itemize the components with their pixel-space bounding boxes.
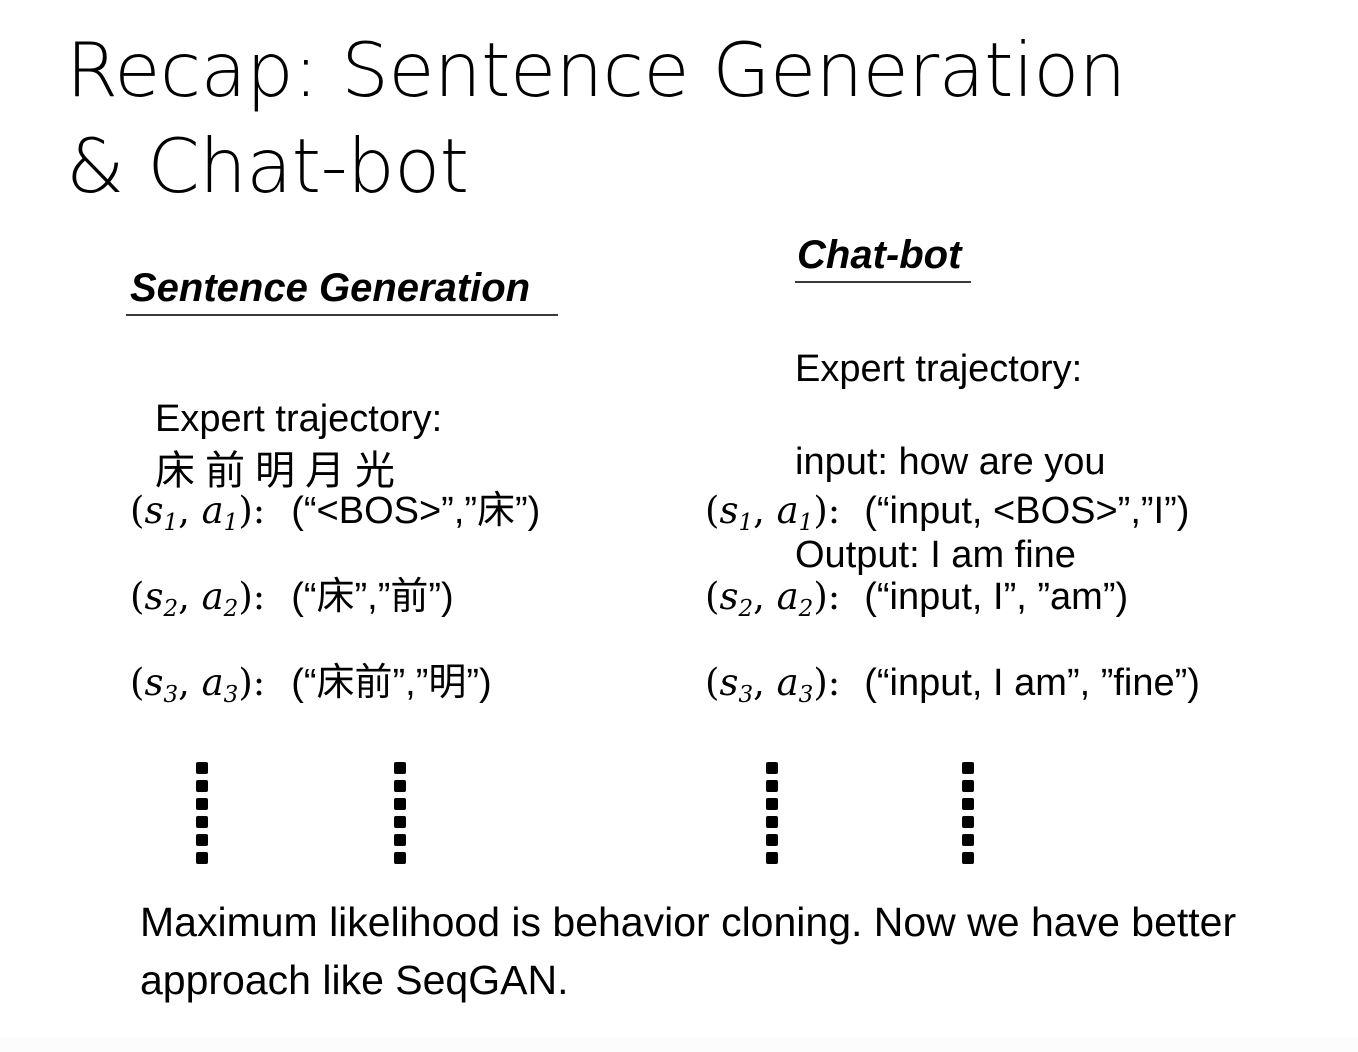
vertical-ellipsis-icon — [196, 762, 208, 864]
expert-trajectory-label-left: Expert trajectory: — [155, 398, 442, 440]
state-action-label: (s2, a2): — [130, 578, 265, 615]
page-title: Recap: Sentence Generation & Chat-bot — [66, 22, 1166, 214]
section-underline-sentence-generation — [126, 314, 558, 316]
state-action-label: (s1, a1): — [705, 492, 840, 529]
state-action-row: (s1, a1): (“<BOS>”,”床”) — [130, 492, 540, 538]
state-action-label: (s3, a3): — [130, 664, 265, 701]
state-action-value: (“input, I”, ”am”) — [864, 578, 1128, 616]
state-action-label: (s1, a1): — [130, 492, 265, 529]
state-action-pairs-chat-bot: (s1, a1): (“input, <BOS>”,”I”) (s2, a2):… — [705, 492, 1200, 710]
state-action-row: (s1, a1): (“input, <BOS>”,”I”) — [705, 492, 1200, 538]
state-action-row: (s3, a3): (“input, I am”, ”fine”) — [705, 664, 1200, 710]
state-action-row: (s3, a3): (“床前”,”明”) — [130, 664, 540, 710]
vertical-ellipsis-icon — [766, 762, 778, 864]
bottom-band — [0, 1038, 1358, 1052]
footnote-text: Maximum likelihood is behavior cloning. … — [140, 893, 1270, 1009]
vertical-ellipsis-icon — [394, 762, 406, 864]
state-action-value: (“床”,”前”) — [291, 578, 453, 616]
state-action-label: (s3, a3): — [705, 664, 840, 701]
slide-canvas: Recap: Sentence Generation & Chat-bot Se… — [0, 0, 1358, 1052]
state-action-value: (“<BOS>”,”床”) — [291, 492, 540, 530]
state-action-value: (“input, I am”, ”fine”) — [864, 664, 1200, 702]
expert-trajectory-input: input: how are you — [795, 439, 1106, 485]
state-action-row: (s2, a2): (“input, I”, ”am”) — [705, 578, 1200, 624]
state-action-label: (s2, a2): — [705, 578, 840, 615]
state-action-row: (s2, a2): (“床”,”前”) — [130, 578, 540, 624]
section-heading-chat-bot: Chat-bot — [797, 235, 961, 275]
state-action-value: (“床前”,”明”) — [291, 664, 491, 702]
expert-trajectory-label-right: Expert trajectory: — [795, 346, 1106, 392]
state-action-value: (“input, <BOS>”,”I”) — [864, 492, 1189, 530]
state-action-pairs-sentence-generation: (s1, a1): (“<BOS>”,”床”) (s2, a2): (“床”,”… — [130, 492, 540, 710]
section-underline-chat-bot — [795, 281, 971, 283]
section-heading-sentence-generation: Sentence Generation — [130, 268, 530, 308]
vertical-ellipsis-icon — [962, 762, 974, 864]
